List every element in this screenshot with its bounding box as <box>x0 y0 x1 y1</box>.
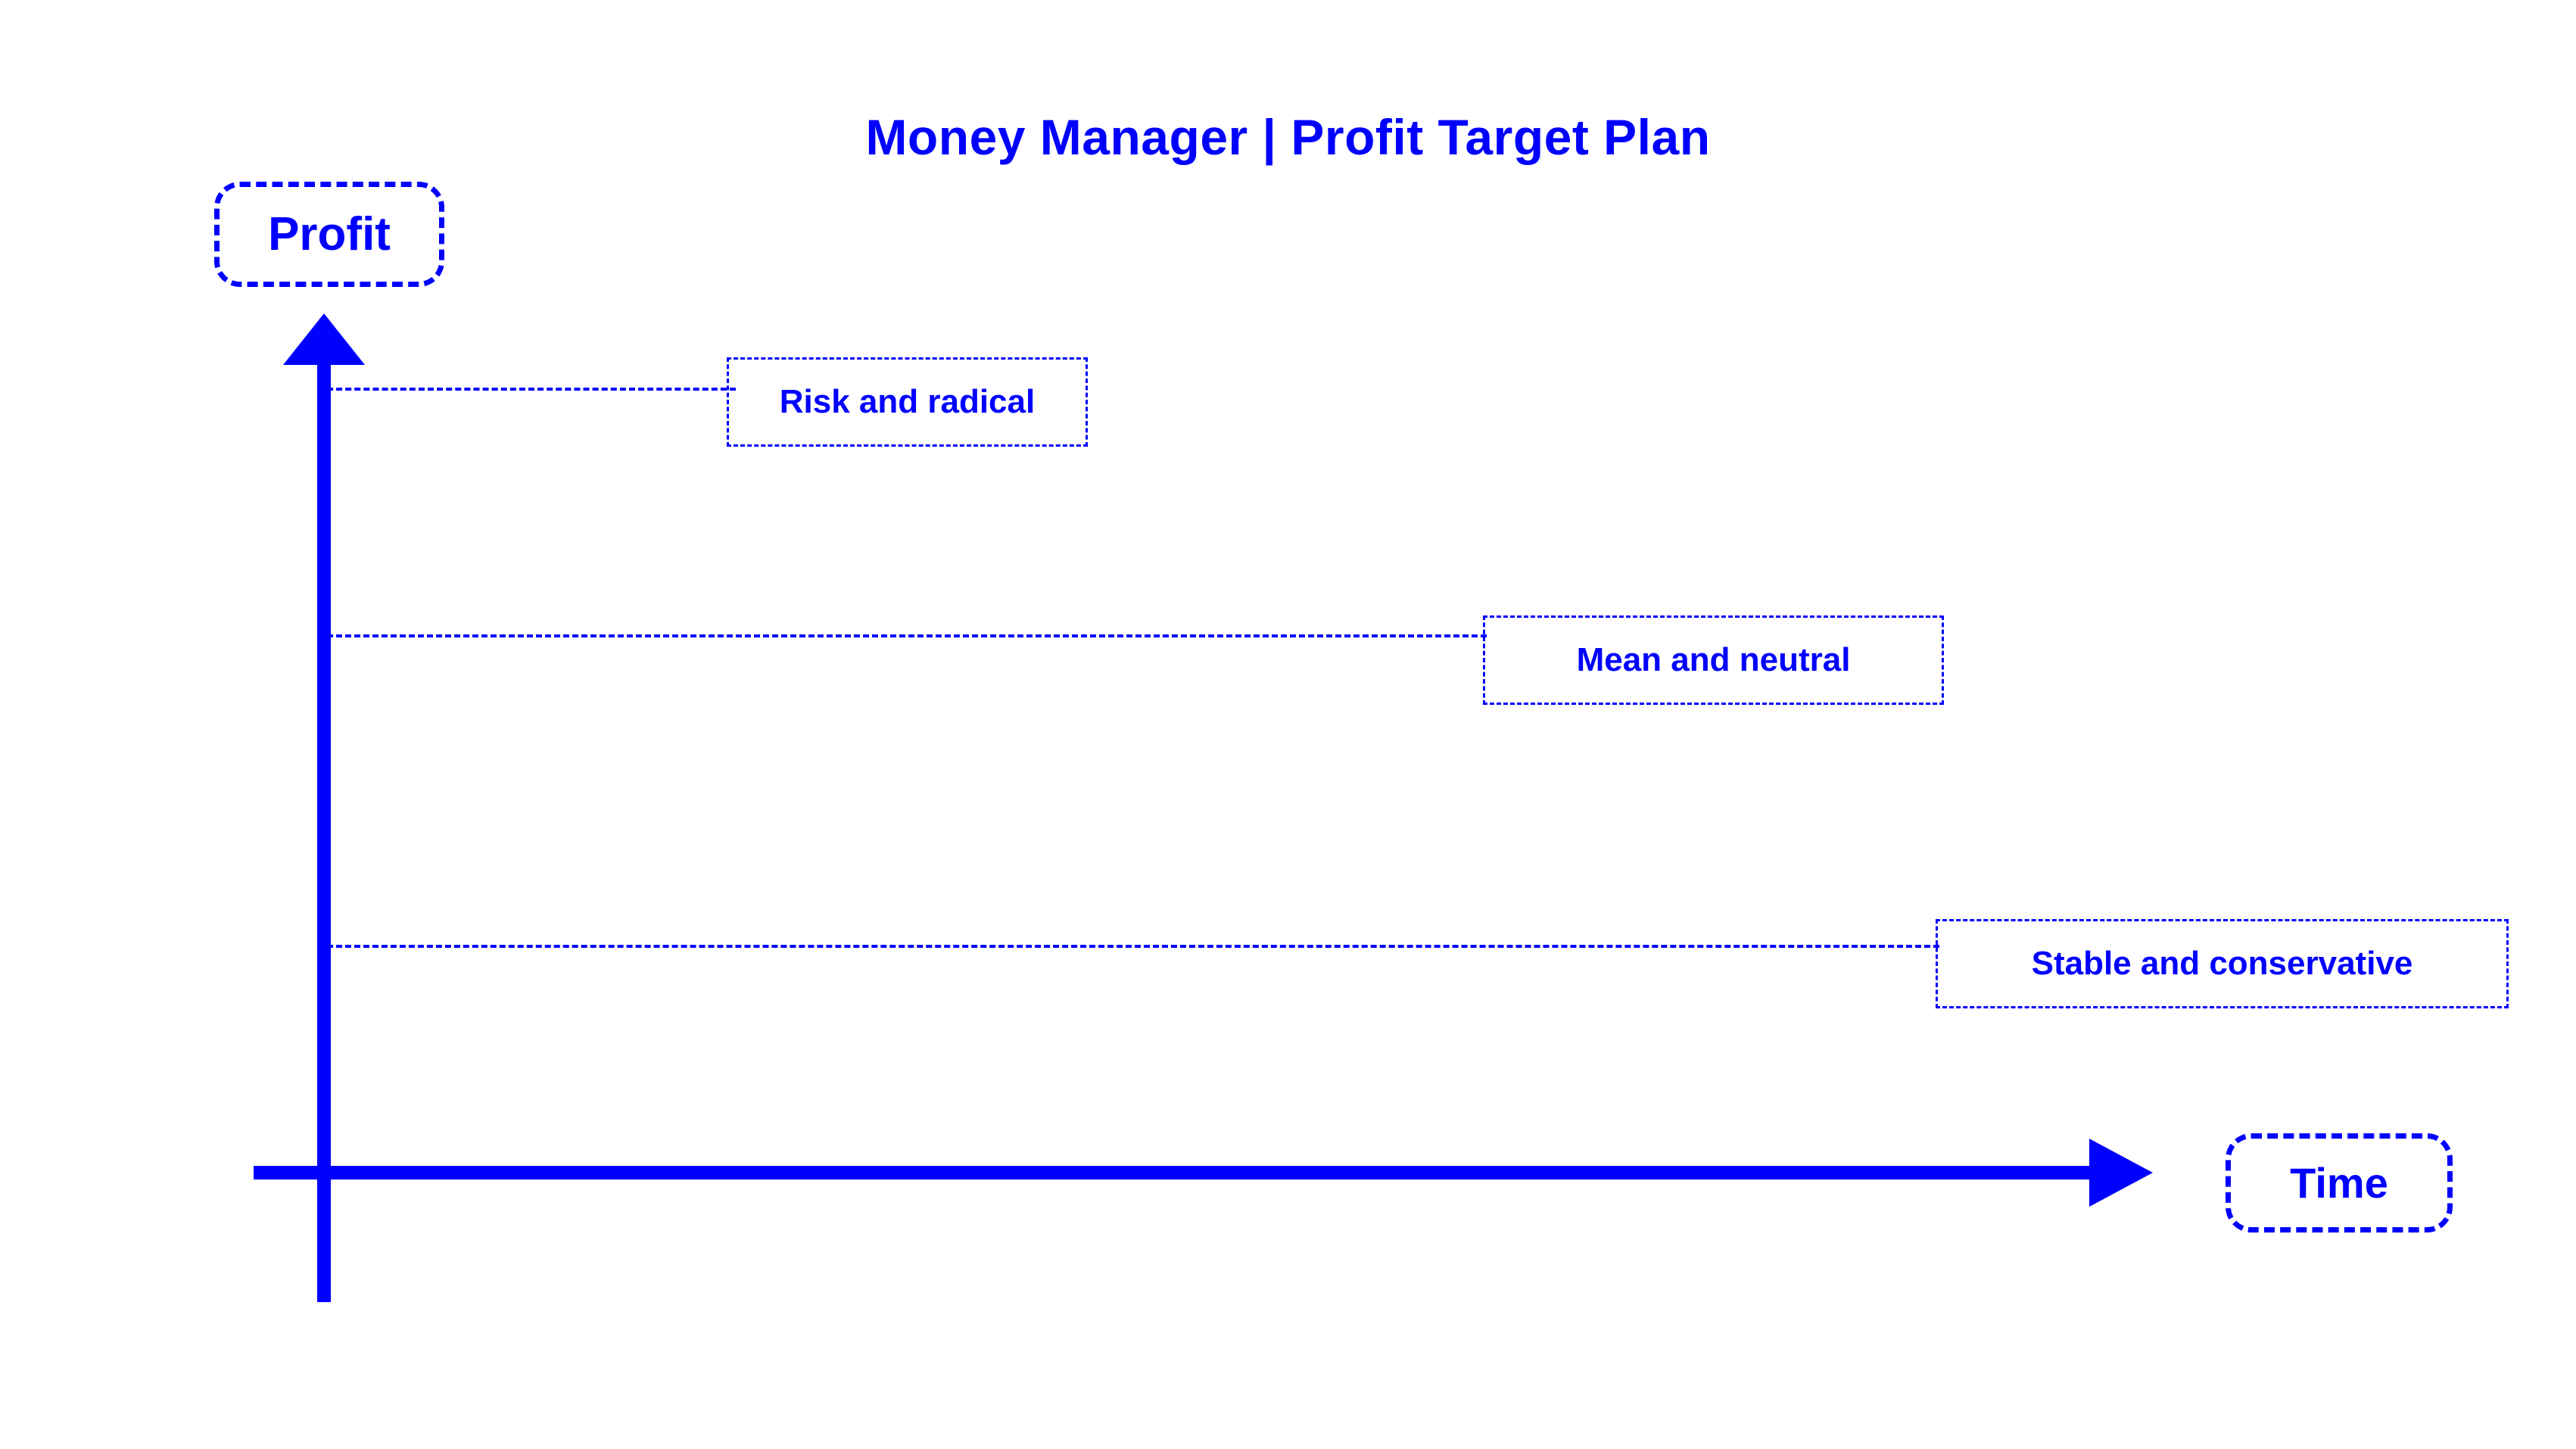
annotation-label: Risk and radical <box>780 383 1035 421</box>
y-axis-line <box>317 356 331 1302</box>
annotation-label: Mean and neutral <box>1577 641 1851 679</box>
annotation-risk-and-radical: Risk and radical <box>727 357 1088 447</box>
leader-line-mean-and-neutral <box>327 634 1487 637</box>
annotation-stable-and-conservative: Stable and conservative <box>1936 919 2509 1008</box>
y-axis-label-profit: Profit <box>214 182 444 287</box>
page-title: Money Manager | Profit Target Plan <box>0 108 2576 166</box>
leader-line-risk-and-radical <box>327 388 736 391</box>
x-axis-line <box>254 1166 2108 1179</box>
annotation-mean-and-neutral: Mean and neutral <box>1483 615 1944 705</box>
diagram-canvas: Money Manager | Profit Target Plan Profi… <box>0 0 2576 1449</box>
x-axis-label-time: Time <box>2226 1133 2453 1232</box>
leader-line-stable-and-conservative <box>327 945 1939 948</box>
x-axis-label-text: Time <box>2290 1158 2388 1207</box>
annotation-label: Stable and conservative <box>2032 945 2413 983</box>
x-axis-arrow-icon <box>2089 1139 2153 1207</box>
y-axis-label-text: Profit <box>268 207 391 261</box>
